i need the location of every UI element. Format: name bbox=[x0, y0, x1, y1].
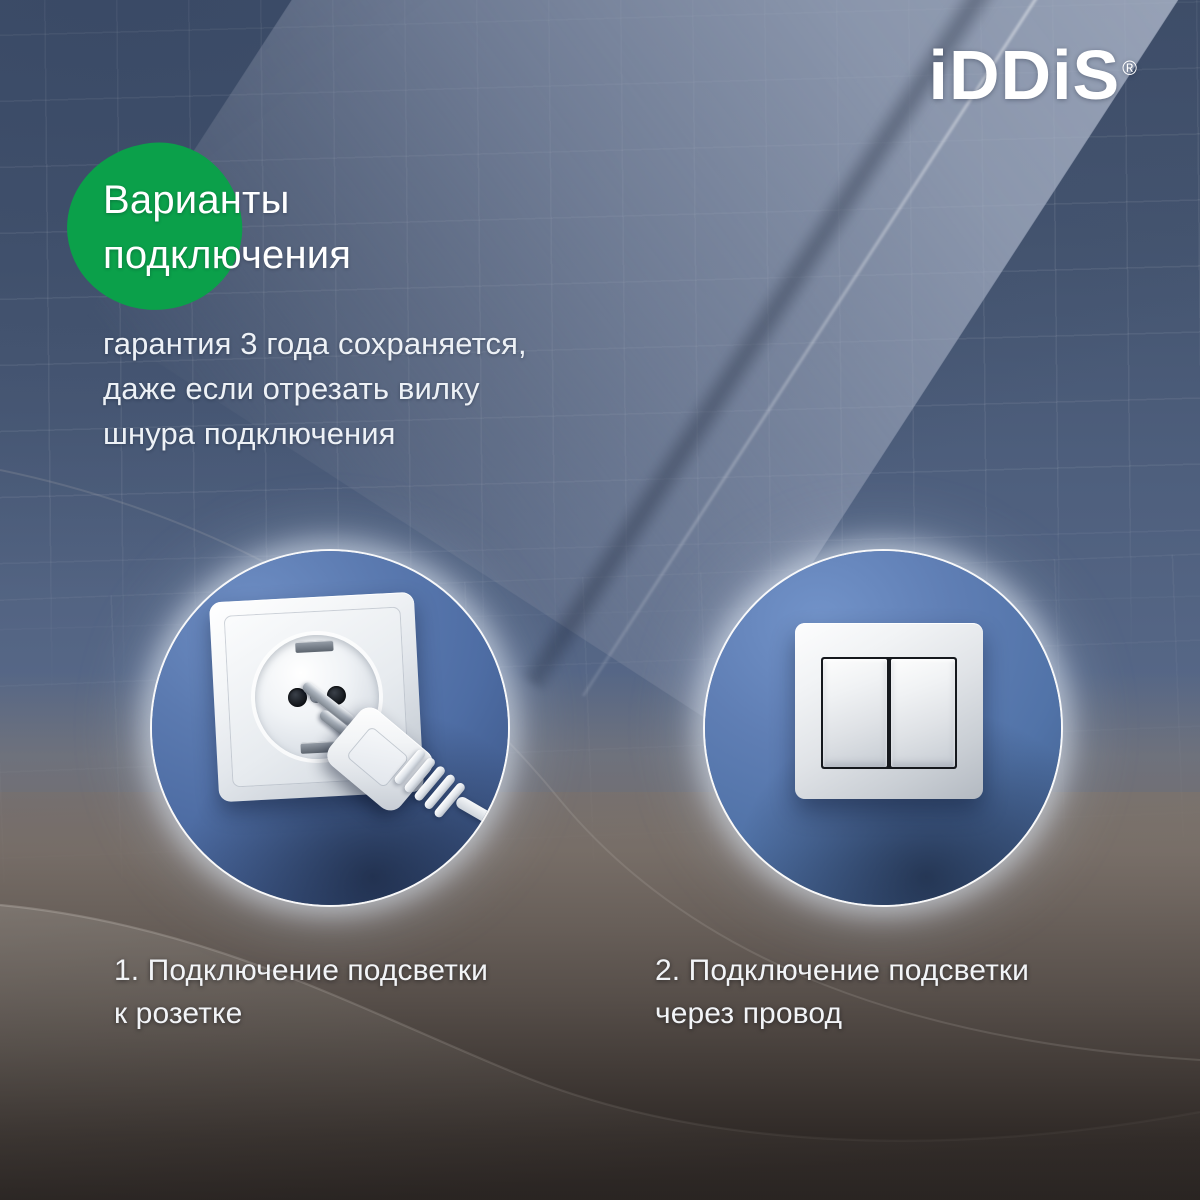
registered-mark-icon: ® bbox=[1122, 58, 1138, 80]
option-2-caption: 2. Подключение подсветки через провод bbox=[655, 950, 1029, 1035]
promo-slide: iDDiS® Варианты подключения гарантия 3 г… bbox=[0, 0, 1200, 1200]
switch-rocker-group bbox=[821, 657, 957, 769]
logo-wordmark: iDDiS bbox=[929, 36, 1121, 114]
switch-rocker-right bbox=[891, 659, 955, 767]
switch-rocker-left bbox=[823, 659, 887, 767]
subheadline-text: гарантия 3 года сохраняется, даже если о… bbox=[103, 322, 527, 457]
socket-with-plug-photo bbox=[152, 551, 508, 905]
wall-switch-photo bbox=[705, 551, 1061, 905]
iddis-logo: iDDiS® bbox=[929, 40, 1138, 110]
earth-contact-top-icon bbox=[295, 640, 334, 653]
option-1-caption: 1. Подключение подсветки к розетке bbox=[114, 950, 488, 1035]
headline-title: Варианты подключения bbox=[103, 173, 351, 283]
wall-switch-faceplate bbox=[795, 623, 983, 799]
